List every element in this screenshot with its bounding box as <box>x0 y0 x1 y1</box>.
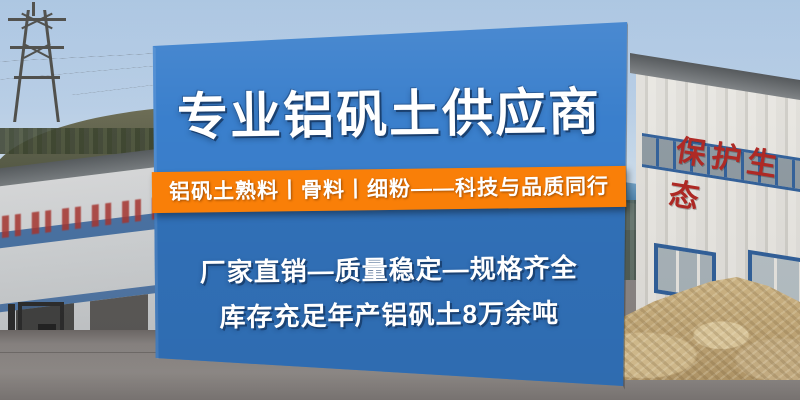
banner-subheadline-line-2: 库存充足年产铝矾土8万余吨 <box>150 290 629 341</box>
banner-subheadline-line-1: 厂家直销—质量稳定—规格齐全 <box>149 245 628 296</box>
banner-headline: 专业铝矾土供应商 <box>150 83 629 147</box>
bauxite-supplier-banner: 保护生态 专业铝矾土供应商 铝矾土熟料丨骨料丨细粉——科技与品质同行 厂家直销—… <box>0 0 800 400</box>
orange-ribbon: 铝矾土熟料丨骨料丨细粉——科技与品质同行 <box>152 166 626 213</box>
orange-ribbon-text: 铝矾土熟料丨骨料丨细粉——科技与品质同行 <box>152 166 626 213</box>
banner-text-layer: 专业铝矾土供应商 铝矾土熟料丨骨料丨细粉——科技与品质同行 厂家直销—质量稳定—… <box>0 0 800 400</box>
banner-subheadlines: 厂家直销—质量稳定—规格齐全 库存充足年产铝矾土8万余吨 <box>149 245 628 341</box>
